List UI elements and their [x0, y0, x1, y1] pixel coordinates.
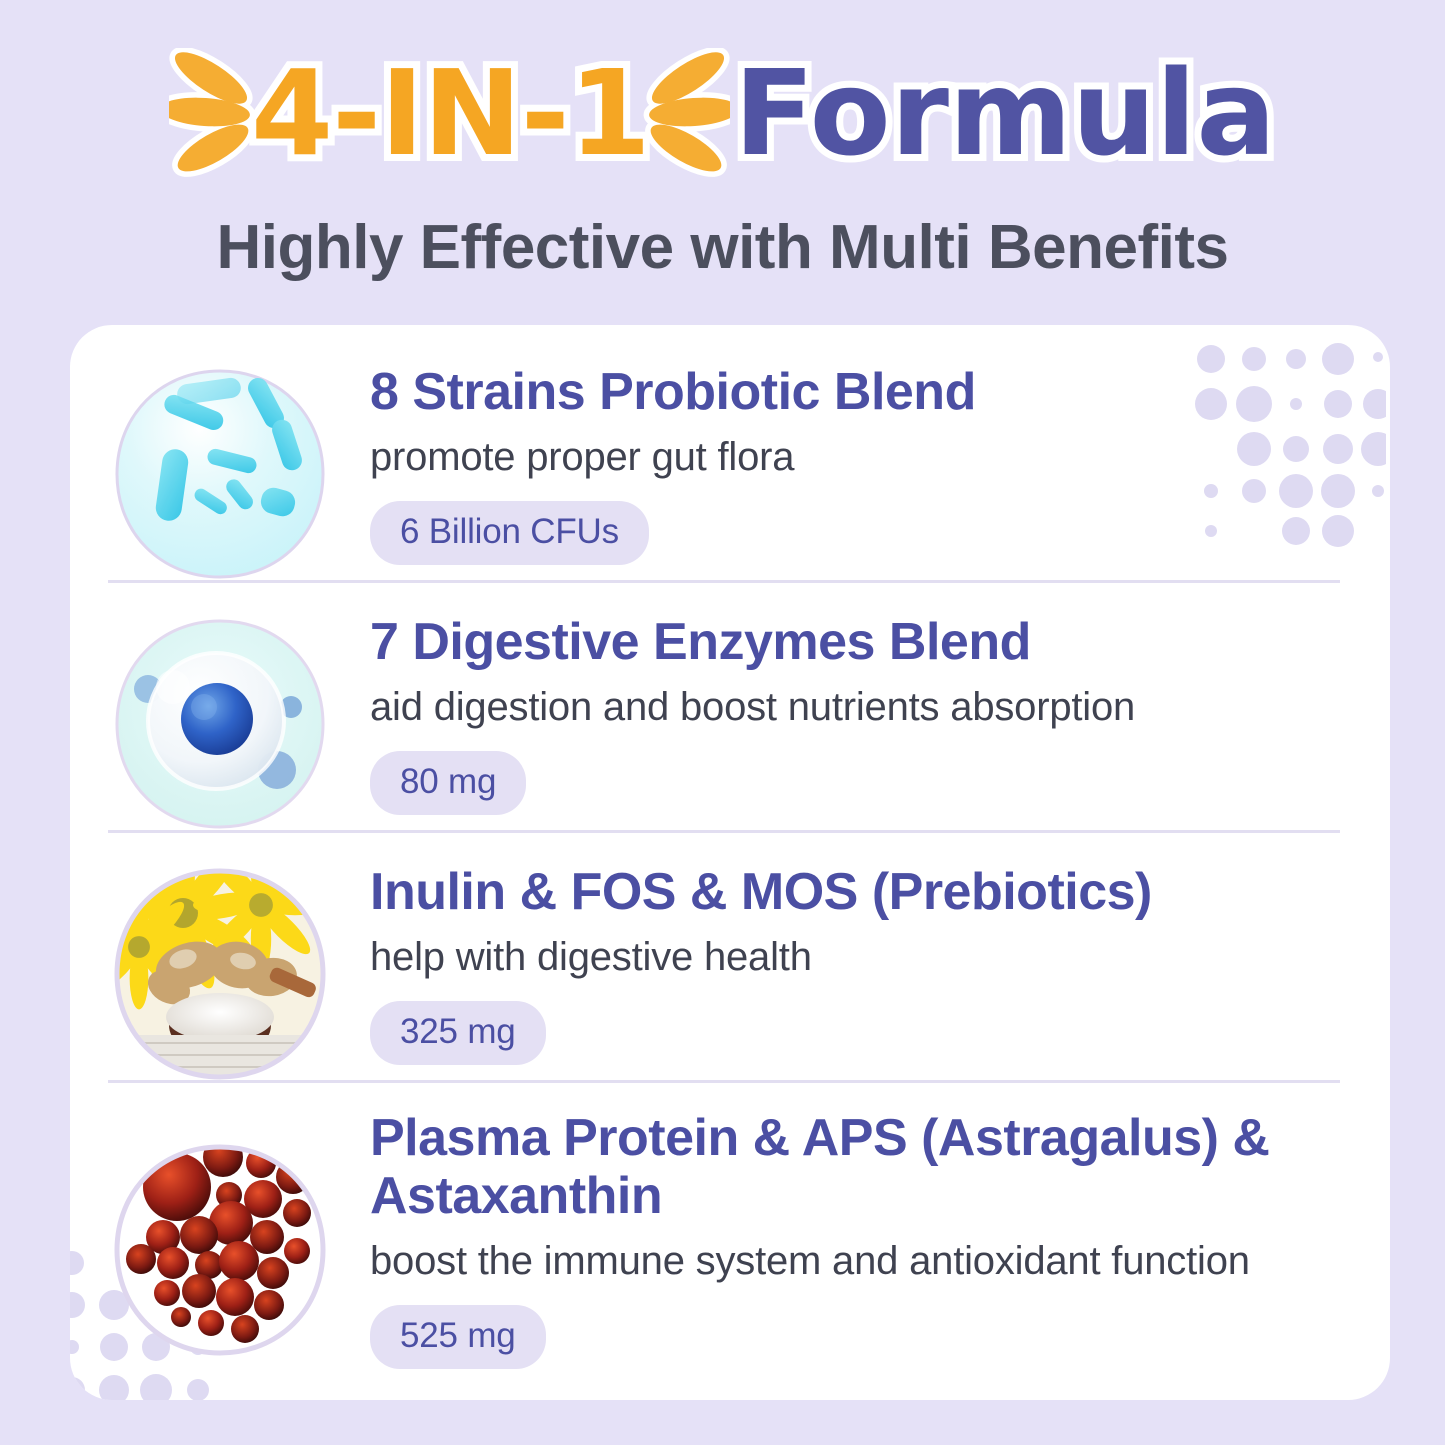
- benefit-title: 7 Digestive Enzymes Blend: [370, 613, 1390, 671]
- page-title-highlight: 4-IN-1: [251, 54, 650, 172]
- title-row: 4-IN-1 Formula: [0, 38, 1445, 188]
- benefit-description: boost the immune system and antioxidant …: [370, 1237, 1390, 1285]
- enzyme-cell-icon: [111, 615, 329, 833]
- benefit-description: help with digestive health: [370, 933, 1390, 981]
- header: 4-IN-1 Formula Highly Ef: [0, 0, 1445, 325]
- text-cell: 7 Digestive Enzymes Blend aid digestion …: [370, 597, 1390, 815]
- benefit-row: 8 Strains Probiotic Blend promote proper…: [70, 347, 1390, 597]
- benefit-rows: 8 Strains Probiotic Blend promote proper…: [70, 325, 1390, 1400]
- dosage-badge: 6 Billion CFUs: [370, 501, 649, 565]
- dosage-badge: 525 mg: [370, 1305, 546, 1369]
- benefit-title: Plasma Protein & APS (Astragalus) & Asta…: [370, 1109, 1390, 1225]
- icon-cell: [70, 597, 370, 833]
- benefit-title: Inulin & FOS & MOS (Prebiotics): [370, 863, 1390, 921]
- benefit-row: Plasma Protein & APS (Astragalus) & Asta…: [70, 1097, 1390, 1397]
- page-title: Formula: [734, 54, 1276, 172]
- icon-cell: [70, 347, 370, 583]
- astaxanthin-cells-icon: [111, 1141, 329, 1359]
- icon-cell: [70, 847, 370, 1083]
- icon-cell: [70, 1097, 370, 1359]
- starburst-rays-icon: [169, 48, 257, 178]
- benefit-description: promote proper gut flora: [370, 433, 1390, 481]
- starburst-rays-icon: [642, 48, 730, 178]
- text-cell: Inulin & FOS & MOS (Prebiotics) help wit…: [370, 847, 1390, 1065]
- dosage-badge: 80 mg: [370, 751, 526, 815]
- text-cell: 8 Strains Probiotic Blend promote proper…: [370, 347, 1390, 565]
- benefit-description: aid digestion and boost nutrients absorp…: [370, 683, 1390, 731]
- benefit-row: 7 Digestive Enzymes Blend aid digestion …: [70, 597, 1390, 847]
- benefit-title: 8 Strains Probiotic Blend: [370, 363, 1390, 421]
- dosage-badge: 325 mg: [370, 1001, 546, 1065]
- benefits-card: 8 Strains Probiotic Blend promote proper…: [70, 325, 1390, 1400]
- page-subtitle: Highly Effective with Multi Benefits: [0, 212, 1445, 283]
- sunflower-root-powder-icon: [111, 865, 329, 1083]
- text-cell: Plasma Protein & APS (Astragalus) & Asta…: [370, 1097, 1390, 1369]
- probiotic-bacteria-icon: [111, 365, 329, 583]
- benefit-row: Inulin & FOS & MOS (Prebiotics) help wit…: [70, 847, 1390, 1097]
